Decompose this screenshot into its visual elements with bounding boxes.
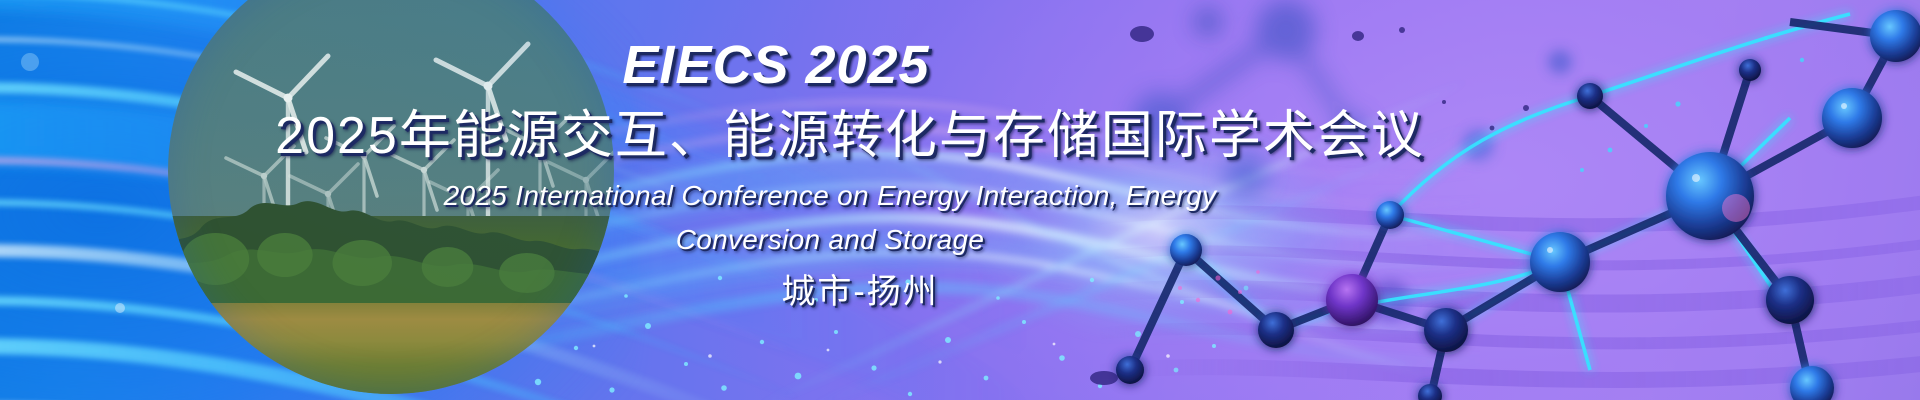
- conference-banner: EIECS 2025 2025年能源交互、能源转化与存储国际学术会议 2025 …: [0, 0, 1920, 400]
- conference-chinese-title: 2025年能源交互、能源转化与存储国际学术会议: [100, 110, 1600, 162]
- conference-english-subtitle-line1: 2025 International Conference on Energy …: [130, 182, 1530, 210]
- banner-text-block: EIECS 2025 2025年能源交互、能源转化与存储国际学术会议 2025 …: [0, 0, 1920, 400]
- conference-english-subtitle-line2: Conversion and Storage: [130, 226, 1530, 254]
- conference-city-label: 城市-扬州: [160, 275, 1560, 309]
- conference-acronym-title: EIECS 2025: [176, 38, 1376, 92]
